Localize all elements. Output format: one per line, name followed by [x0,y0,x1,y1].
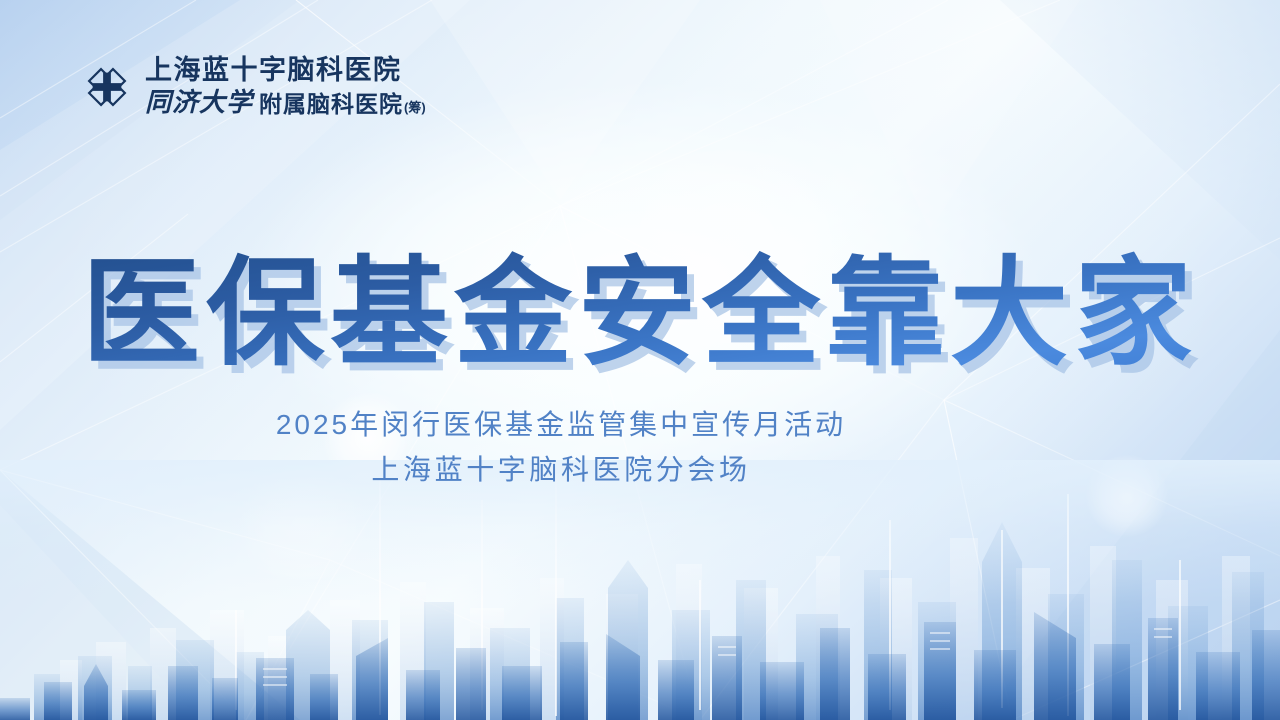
page-title: 医保基金安全靠大家 医保基金安全靠大家 [82,248,1198,380]
status-note: (筹) [404,101,426,116]
headline-block: 医保基金安全靠大家 医保基金安全靠大家 [0,248,1280,380]
hospital-name: 上海蓝十字脑科医院 [145,57,426,84]
skyline-haze-overlay [0,460,1280,720]
headline-fill-layer: 医保基金安全靠大家 [82,248,1198,380]
city-skyline-silhouette [0,460,1280,720]
subtitle-line-2: 上海蓝十字脑科医院分会场 [0,447,1122,492]
blue-cross-diamond-logo-icon [80,60,134,114]
affiliation-name: 附属脑科医院 [259,93,403,116]
hospital-affiliation-line: 同济大学 附属脑科医院 (筹) [145,90,426,116]
university-name: 同济大学 [145,90,253,116]
subtitle-block: 2025年闵行医保基金监管集中宣传月活动 上海蓝十字脑科医院分会场 [0,402,1280,493]
poster-canvas: 上海蓝十字脑科医院 同济大学 附属脑科医院 (筹) 医保基金安全靠大家 医保基金… [0,0,1280,720]
hospital-logo: 上海蓝十字脑科医院 同济大学 附属脑科医院 (筹) [80,57,426,116]
hospital-logo-text: 上海蓝十字脑科医院 同济大学 附属脑科医院 (筹) [145,57,426,116]
subtitle-line-1: 2025年闵行医保基金监管集中宣传月活动 [0,402,1122,447]
